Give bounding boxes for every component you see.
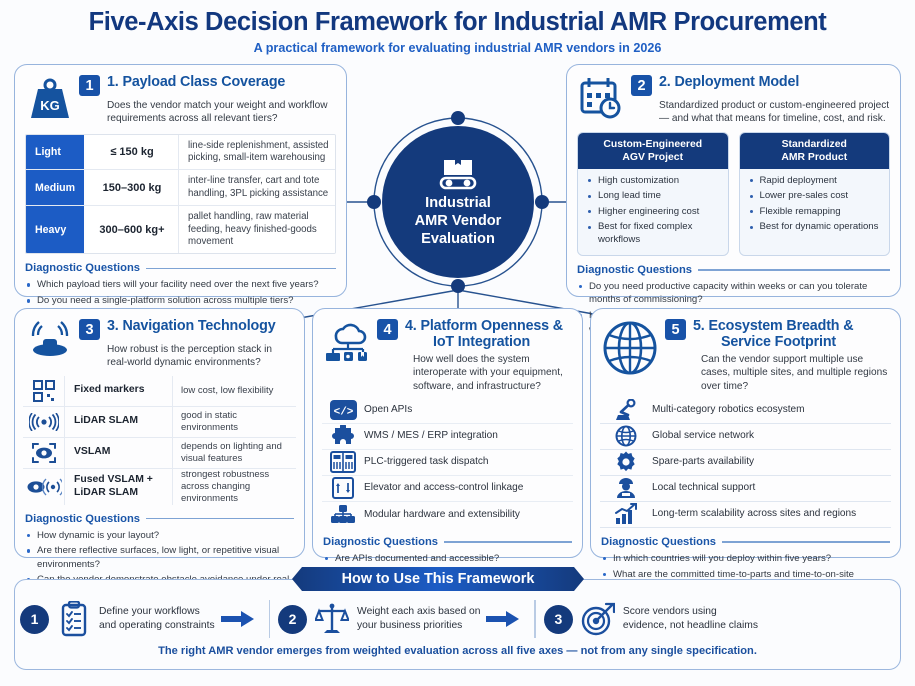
right-arrow-icon [480,610,526,628]
step-text-line1: Define your workflows [99,605,215,619]
feature-label: WMS / MES / ERP integration [364,430,573,442]
feature-label: Local technical support [652,482,891,494]
axis-number-badge: 5 [665,319,686,340]
list-item: Flexible remapping [749,206,883,218]
robot-arm-icon [600,399,652,421]
modular-blocks-icon [322,504,364,526]
panel-heading-line2: AMR Product [744,151,886,164]
tier-range: ≤ 150 kg [86,135,178,170]
axis-title: 4. Platform Openness & IoT Integration [405,318,563,350]
list-item: High customization [587,175,721,187]
hub-line-1: Industrial [415,195,502,213]
diagnostic-label: Diagnostic Questions [601,536,716,548]
step-text-line2: and operating constraints [99,619,215,633]
deployment-panels: Custom-Engineered AGV Project High custo… [567,126,900,256]
list-item: Long lead time [587,190,721,202]
list-item: </> Open APIs [322,398,573,424]
nav-label: LiDAR SLAM [65,407,173,437]
tier-name: Medium [26,170,86,205]
feature-label: Global service network [652,430,891,442]
divider [269,600,270,638]
table-row: Fused VSLAM + LiDAR SLAM strongest robus… [23,469,296,505]
panel-heading: Custom-Engineered AGV Project [578,133,728,169]
how-to-use-steps: 1 Define your workflows and operating co… [20,600,895,638]
list-item: Higher engineering cost [587,206,721,218]
feature-label: PLC-triggered task dispatch [364,456,573,468]
divider [722,541,890,542]
lidar-scanner-icon [25,318,77,370]
axis-card-deployment-model[interactable]: 2 2. Deployment Model Standardized produ… [566,64,901,297]
list-item: Global service network [600,424,891,450]
list-item: Which payload tiers will your facility n… [25,278,336,291]
kg-weight-icon: KG [25,74,77,126]
qr-marker-icon [23,376,65,406]
list-item: Modular hardware and extensibility [322,502,573,528]
diagnostic-label: Diagnostic Questions [577,264,692,276]
list-item: Do you need productive capacity within w… [577,280,890,306]
panel-heading-line1: Custom-Engineered [582,138,724,151]
feature-label: Modular hardware and extensibility [364,509,573,521]
globe-grid-icon [601,318,663,393]
growth-chart-icon [600,503,652,525]
nav-label: Fixed markers [65,376,173,406]
axis-number-badge: 4 [377,319,398,340]
step-number: 1 [20,605,49,634]
balance-scale-icon [315,602,349,636]
list-item: Do you need a single-platform solution a… [25,294,336,307]
nav-note: strongest robustness across changing env… [173,469,296,505]
list-item: Long-term scalability across sites and r… [600,502,891,528]
list-item: Are there reflective surfaces, low light… [25,544,294,570]
list-item: How dynamic is your layout? [25,529,294,542]
list-item: Are APIs documented and accessible? [323,552,572,565]
right-arrow-icon [215,610,261,628]
feature-label: Long-term scalability across sites and r… [652,508,891,520]
tier-desc: inter-line transfer, cart and tote handl… [178,170,335,205]
step-2: 2 Weight each axis based on your busines… [278,602,480,636]
axis-subtitle: Standardized product or custom-engineere… [659,99,890,126]
table-row: Heavy 300–600 kg+ pallet handling, raw m… [26,206,335,253]
technician-icon [600,477,652,499]
tier-desc: pallet handling, raw material feeding, h… [178,206,335,253]
nav-note: good in static environments [173,410,296,434]
diagnostic-header: Diagnostic Questions [601,536,890,548]
table-row: Fixed markers low cost, low flexibility [23,376,296,407]
list-item: In which countries will you deploy withi… [601,552,890,565]
amr-robot-with-box-icon [428,160,488,192]
plc-cabinet-icon [322,451,364,473]
hub-line-2: AMR Vendor [415,213,502,231]
infographic-root: Five-Axis Decision Framework for Industr… [0,0,915,686]
diagnostic-header: Diagnostic Questions [25,262,336,274]
feature-label: Elevator and access-control linkage [364,482,573,494]
step-text-line2: your business priorities [357,619,480,633]
diagnostic-label: Diagnostic Questions [25,262,140,274]
axis-title-line2: IoT Integration [405,334,563,350]
panel-heading-line2: AGV Project [582,151,724,164]
payload-tier-table: Light ≤ 150 kg line-side replenishment, … [25,134,336,255]
axis-title: 1. Payload Class Coverage [107,74,285,90]
feature-label: Open APIs [364,404,573,416]
list-item: Lower pre-sales cost [749,190,883,202]
panel-custom-engineered-agv: Custom-Engineered AGV Project High custo… [577,132,729,256]
step-text-line2: evidence, not headline claims [623,619,758,633]
ecosystem-feature-list: Multi-category robotics ecosystem Global… [600,398,891,528]
list-item: Rapid deployment [749,175,883,187]
diagnostic-label: Diagnostic Questions [323,536,438,548]
divider [146,268,336,269]
nav-note: low cost, low flexibility [173,385,296,397]
elevator-icon [322,477,364,499]
central-hub: Industrial AMR Vendor Evaluation [382,126,534,278]
axis-number-badge: 1 [79,75,100,96]
diagnostic-header: Diagnostic Questions [577,264,890,276]
feature-label: Multi-category robotics ecosystem [652,404,891,416]
panel-standardized-amr: Standardized AMR Product Rapid deploymen… [739,132,891,256]
axis-card-payload-class-coverage[interactable]: KG 1 1. Payload Class Coverage Does the … [14,64,347,297]
svg-text:</>: </> [333,407,353,419]
list-item: WMS / MES / ERP integration [322,424,573,450]
table-row: Light ≤ 150 kg line-side replenishment, … [26,135,335,171]
axis-title: 3. Navigation Technology [107,318,276,334]
code-brackets-icon: </> [322,400,364,420]
tier-range: 300–600 kg+ [86,206,178,253]
svg-text:KG: KG [40,98,60,113]
nav-label: Fused VSLAM + LiDAR SLAM [65,469,173,505]
step-text: Score vendors using evidence, not headli… [623,605,758,633]
step-3: 3 Score vendors using evidence, not head… [544,602,758,636]
card-header: 2 2. Deployment Model Standardized produ… [567,65,900,126]
camera-eye-icon [23,438,65,468]
step-number: 2 [278,605,307,634]
footer-note: The right AMR vendor emerges from weight… [0,645,915,657]
step-text-line1: Weight each axis based on [357,605,480,619]
axis-subtitle: Does the vendor match your weight and wo… [107,99,336,126]
signal-waves-icon [23,407,65,437]
tier-name: Heavy [26,206,86,253]
panel-heading: Standardized AMR Product [740,133,890,169]
step-text: Define your workflows and operating cons… [99,605,215,633]
axis-title-line1: 5. Ecosystem Breadth & [693,318,853,334]
axis-title-line2: Service Footprint [693,334,853,350]
eye-plus-signal-icon [23,469,65,505]
platform-feature-list: </> Open APIs WMS / MES / ERP integratio… [322,398,573,528]
axis-card-platform-openness[interactable]: 4 4. Platform Openness & IoT Integration… [312,308,583,558]
card-header: 5 5. Ecosystem Breadth & Service Footpri… [591,309,900,393]
axis-number-badge: 2 [631,75,652,96]
axis-number-badge: 3 [79,319,100,340]
diagnostic-header: Diagnostic Questions [25,513,294,525]
divider [534,600,535,638]
axis-card-ecosystem-breadth[interactable]: 5 5. Ecosystem Breadth & Service Footpri… [590,308,901,558]
nav-note: depends on lighting and visual features [173,441,296,465]
card-header: KG 1 1. Payload Class Coverage Does the … [15,65,346,126]
table-row: Medium 150–300 kg inter-line transfer, c… [26,170,335,206]
checklist-clipboard-icon [57,601,91,637]
target-arrow-icon [581,602,615,636]
divider [146,518,294,519]
step-1: 1 Define your workflows and operating co… [20,601,215,637]
diagnostic-header: Diagnostic Questions [323,536,572,548]
how-to-use-ribbon: How to Use This Framework [292,567,584,591]
tier-desc: line-side replenishment, assisted pickin… [178,135,335,170]
card-header: 4 4. Platform Openness & IoT Integration… [313,309,582,393]
feature-label: Spare-parts availability [652,456,891,468]
hub-line-3: Evaluation [415,231,502,249]
gear-icon [600,451,652,473]
list-item: Elevator and access-control linkage [322,476,573,502]
page-subtitle: A practical framework for evaluating ind… [0,41,915,55]
globe-icon [600,425,652,447]
table-row: VSLAM depends on lighting and visual fea… [23,438,296,469]
axis-title: 2. Deployment Model [659,74,799,90]
table-row: LiDAR SLAM good in static environments [23,407,296,438]
axis-subtitle: How well does the system interoperate wi… [413,353,572,393]
list-item: Local technical support [600,476,891,502]
step-number: 3 [544,605,573,634]
list-item: Spare-parts availability [600,450,891,476]
axis-title: 5. Ecosystem Breadth & Service Footprint [693,318,853,350]
axis-subtitle: Can the vendor support multiple use case… [701,353,890,393]
axis-card-navigation-technology[interactable]: 3 3. Navigation Technology How robust is… [14,308,305,558]
nav-label: VSLAM [65,438,173,468]
divider [698,269,890,270]
divider [444,541,572,542]
tier-range: 150–300 kg [86,170,178,205]
step-text-line1: Score vendors using [623,605,758,619]
calendar-clock-icon [577,74,629,126]
list-item: PLC-triggered task dispatch [322,450,573,476]
list-item: Multi-category robotics ecosystem [600,398,891,424]
list-item: Best for dynamic operations [749,221,883,233]
axis-title-line1: 4. Platform Openness & [405,318,563,334]
card-header: 3 3. Navigation Technology How robust is… [15,309,304,370]
step-text: Weight each axis based on your business … [357,605,480,633]
cloud-network-icon [323,318,375,393]
page-title: Five-Axis Decision Framework for Industr… [0,8,915,37]
panel-heading-line1: Standardized [744,138,886,151]
tier-name: Light [26,135,86,170]
puzzle-piece-icon [322,425,364,447]
list-item: Best for fixed complex workflows [587,221,721,246]
navigation-technology-table: Fixed markers low cost, low flexibility [23,376,296,505]
diagnostic-label: Diagnostic Questions [25,513,140,525]
axis-subtitle: How robust is the perception stack in re… [107,343,294,370]
